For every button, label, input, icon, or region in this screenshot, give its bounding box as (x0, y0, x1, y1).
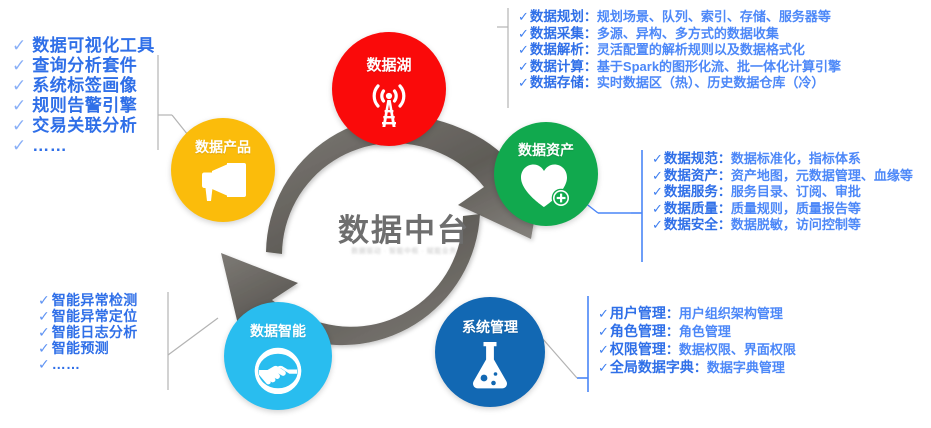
node-data-lake[interactable]: 数据湖 (332, 32, 446, 146)
list-system-manage: ✓用户管理：用户组织架构管理 ✓角色管理：角色管理 ✓权限管理：数据权限、界面权… (598, 306, 796, 378)
node-data-intelligence[interactable]: 数据智能 (224, 302, 332, 410)
list-item: ✓数据安全：数据脱敏，访问控制等 (652, 218, 913, 232)
check-icon: ✓ (598, 361, 609, 374)
flask-icon (468, 340, 512, 390)
center-title: 数据中台 (324, 205, 484, 250)
list-item: ✓数据资产：资产地图，元数据管理、血缘等 (652, 169, 913, 183)
list-item: ✓智能异常定位 (38, 309, 138, 323)
node-label-data-lake: 数据湖 (366, 54, 411, 75)
list-item: ✓数据存储：实时数据区（热）、历史数据仓库（冷） (518, 76, 841, 90)
list-data-asset: ✓数据规范：数据标准化，指标体系 ✓数据资产：资产地图，元数据管理、血缘等 ✓数… (652, 152, 913, 235)
node-data-product[interactable]: 数据产品 (171, 118, 275, 222)
list-item: ✓数据规范：数据标准化，指标体系 (652, 152, 913, 166)
list-item: ✓数据计算：基于Spark的图形化流、批一体化计算引擎 (518, 60, 841, 74)
check-icon: ✓ (652, 152, 663, 165)
diagram-canvas: 数据中台 数据驱动 · 智能中枢 · 赋能业务 数据湖 数据资产 (0, 0, 931, 428)
list-item: ✓智能异常检测 (38, 293, 138, 307)
list-item: ✓角色管理：角色管理 (598, 324, 796, 338)
list-data-lake: ✓数据规划：规划场景、队列、索引、存储、服务器等 ✓数据采集：多源、异构、多方式… (518, 10, 841, 93)
list-item: ✓智能预测 (38, 341, 138, 355)
check-icon: ✓ (652, 185, 663, 198)
handshake-icon (250, 344, 306, 394)
list-item: ✓数据采集：多源、异构、多方式的数据收集 (518, 27, 841, 41)
list-item: ✓智能日志分析 (38, 325, 138, 339)
list-item: ✓数据服务：服务目录、订阅、审批 (652, 185, 913, 199)
check-icon: ✓ (38, 309, 50, 323)
check-icon: ✓ (12, 57, 26, 74)
list-item: ✓查询分析套件 (12, 57, 155, 74)
list-item: ✓数据解析：灵活配置的解析规则以及数据格式化 (518, 43, 841, 57)
check-icon: ✓ (518, 76, 529, 89)
list-item: ✓…… (12, 137, 155, 154)
node-label-data-asset: 数据资产 (518, 140, 574, 160)
heart-plus-icon (518, 162, 574, 210)
node-label-data-intelligence: 数据智能 (250, 321, 306, 341)
list-data-intelligence: ✓智能异常检测 ✓智能异常定位 ✓智能日志分析 ✓智能预测 ✓…… (38, 293, 138, 373)
check-icon: ✓ (38, 341, 50, 355)
node-label-system-manage: 系统管理 (462, 317, 518, 337)
check-icon: ✓ (518, 60, 529, 73)
broadcast-tower-icon (362, 77, 416, 129)
check-icon: ✓ (518, 27, 529, 40)
check-icon: ✓ (518, 43, 529, 56)
list-item: ✓交易关联分析 (12, 117, 155, 134)
check-icon: ✓ (38, 293, 50, 307)
list-data-product: ✓数据可视化工具 ✓查询分析套件 ✓系统标签画像 ✓规则告警引擎 ✓交易关联分析… (12, 37, 155, 157)
check-icon: ✓ (598, 343, 609, 356)
list-item: ✓数据可视化工具 (12, 37, 155, 54)
list-item: ✓全局数据字典：数据字典管理 (598, 360, 796, 374)
list-item: ✓系统标签画像 (12, 77, 155, 94)
list-item: ✓…… (38, 357, 138, 371)
check-icon: ✓ (12, 137, 26, 154)
list-item: ✓权限管理：数据权限、界面权限 (598, 342, 796, 356)
node-label-data-product: 数据产品 (195, 137, 251, 157)
check-icon: ✓ (12, 97, 26, 114)
check-icon: ✓ (12, 37, 26, 54)
check-icon: ✓ (12, 77, 26, 94)
list-item: ✓规则告警引擎 (12, 97, 155, 114)
check-icon: ✓ (598, 307, 609, 320)
center-subtitle: 数据驱动 · 智能中枢 · 赋能业务 (324, 246, 484, 256)
list-item: ✓数据质量：质量规则，质量报告等 (652, 202, 913, 216)
check-icon: ✓ (652, 218, 663, 231)
list-item: ✓数据规划：规划场景、队列、索引、存储、服务器等 (518, 10, 841, 24)
check-icon: ✓ (652, 202, 663, 215)
check-icon: ✓ (38, 325, 50, 339)
check-icon: ✓ (598, 325, 609, 338)
node-system-manage[interactable]: 系统管理 (435, 297, 545, 407)
check-icon: ✓ (12, 117, 26, 134)
check-icon: ✓ (652, 169, 663, 182)
check-icon: ✓ (38, 357, 50, 371)
megaphone-icon (197, 160, 249, 204)
list-item: ✓用户管理：用户组织架构管理 (598, 306, 796, 320)
node-data-asset[interactable]: 数据资产 (494, 122, 598, 226)
check-icon: ✓ (518, 10, 529, 23)
